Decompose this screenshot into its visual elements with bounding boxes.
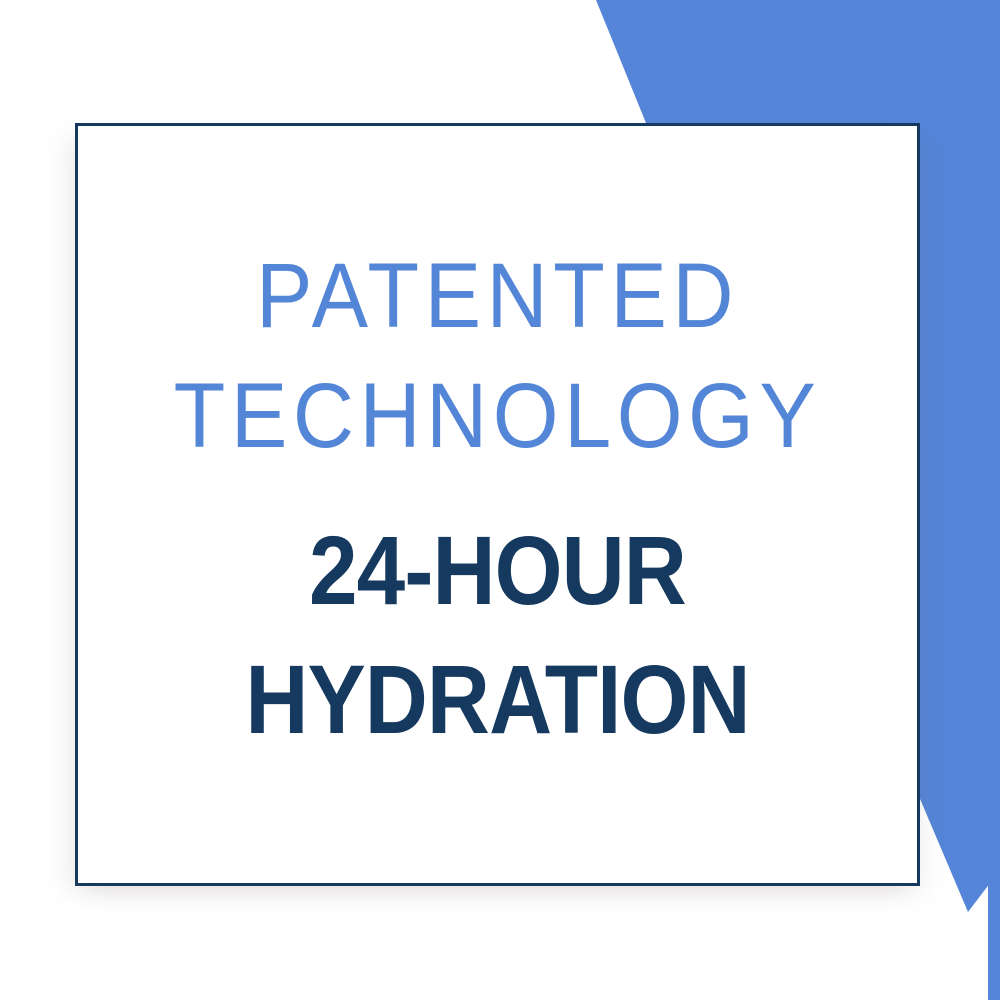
feature-card: PATENTED TECHNOLOGY 24-HOUR HYDRATION xyxy=(75,123,920,886)
headline-text: 24-HOUR HYDRATION xyxy=(78,506,917,764)
headline-line-2: HYDRATION xyxy=(120,635,875,764)
headline-line-1: 24-HOUR xyxy=(120,506,875,635)
eyebrow-line-1: PATENTED xyxy=(112,237,884,357)
card-content: PATENTED TECHNOLOGY 24-HOUR HYDRATION xyxy=(78,237,917,764)
eyebrow-line-2: TECHNOLOGY xyxy=(112,357,884,477)
promo-banner: PATENTED TECHNOLOGY 24-HOUR HYDRATION xyxy=(0,0,1000,1000)
eyebrow-text: PATENTED TECHNOLOGY xyxy=(78,237,917,476)
blue-right-edge-strip xyxy=(988,862,1000,1000)
